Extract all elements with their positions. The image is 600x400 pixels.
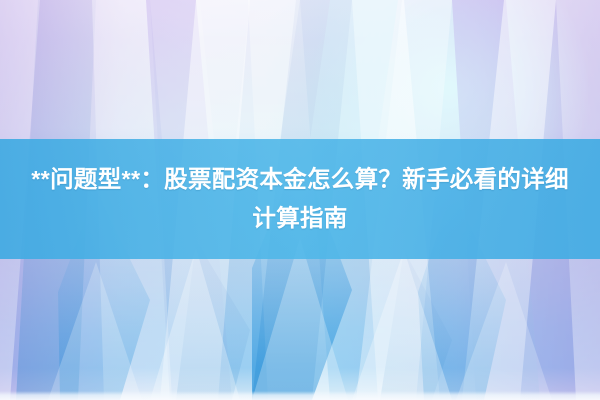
banner-title: **问题型**：股票配资本金怎么算？新手必看的详细计算指南 bbox=[24, 160, 576, 238]
title-band: **问题型**：股票配资本金怎么算？新手必看的详细计算指南 bbox=[0, 139, 600, 259]
banner-title-line-1: **问题型**：股票配资本金怎么算？新手必看的 bbox=[31, 166, 521, 192]
article-banner: **问题型**：股票配资本金怎么算？新手必看的详细计算指南 bbox=[0, 0, 600, 400]
